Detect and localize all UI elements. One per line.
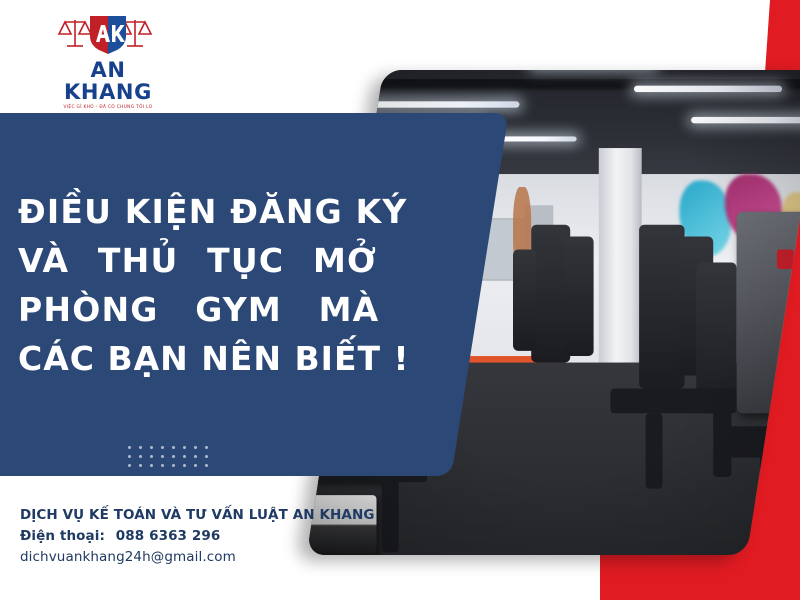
logo-tagline: VIỆC GÌ KHÓ - ĐÃ CÓ CHÚNG TÔI LO xyxy=(52,105,164,110)
phone-line: Điện thoại: 088 6363 296 xyxy=(20,526,375,547)
page-title: ĐIỀU KIỆN ĐĂNG KÝ VÀ THỦ TỤC MỞ PHÒNG GY… xyxy=(18,187,390,383)
poster-canvas: ĐIỀU KIỆN ĐĂNG KÝ VÀ THỦ TỤC MỞ PHÒNG GY… xyxy=(0,0,800,600)
scales-of-justice-ak-monogram-icon xyxy=(52,12,164,58)
headline-line-2: VÀ THỦ TỤC MỞ xyxy=(18,236,390,285)
brand-logo: AN KHANG VIỆC GÌ KHÓ - ĐÃ CÓ CHÚNG TÔI L… xyxy=(52,12,164,110)
logo-brand-name: AN KHANG xyxy=(52,59,164,103)
phone-number: 088 6363 296 xyxy=(116,528,221,544)
headline-line-1: ĐIỀU KIỆN ĐĂNG KÝ xyxy=(18,187,390,236)
email-address: dichvuankhang24h@gmail.com xyxy=(20,547,375,568)
contact-block: DỊCH VỤ KẾ TOÁN VÀ TƯ VẤN LUẬT AN KHANG … xyxy=(20,505,375,568)
headline-line-3: PHÒNG GYM MÀ xyxy=(18,285,390,334)
headline-line-4: CÁC BẠN NÊN BIẾT ! xyxy=(18,334,390,383)
headline-content: ĐIỀU KIỆN ĐĂNG KÝ VÀ THỦ TỤC MỞ PHÒNG GY… xyxy=(0,113,470,476)
company-name: DỊCH VỤ KẾ TOÁN VÀ TƯ VẤN LUẬT AN KHANG xyxy=(20,505,375,526)
dot-grid-decoration xyxy=(128,446,216,473)
phone-label: Điện thoại: xyxy=(20,528,105,544)
